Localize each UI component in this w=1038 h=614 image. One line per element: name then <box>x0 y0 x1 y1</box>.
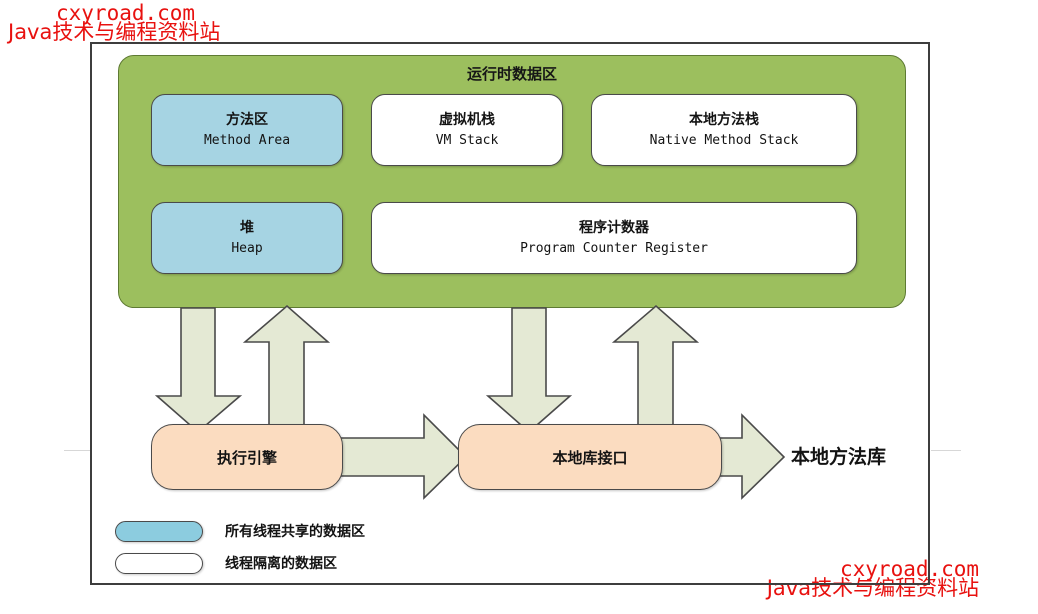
legend-label-isolated: 线程隔离的数据区 <box>225 553 337 573</box>
legend-swatch-isolated <box>115 553 203 574</box>
memory-region-vm-stack[interactable]: 虚拟机栈 VM Stack <box>371 94 563 166</box>
guide-line-left <box>64 450 90 451</box>
native-method-library-label: 本地方法库 <box>791 442 886 469</box>
region-label-cn: 虚拟机栈 <box>439 111 495 130</box>
watermark-tagline: Java技术与编程资料站 <box>8 21 220 43</box>
memory-region-method-area[interactable]: 方法区 Method Area <box>151 94 343 166</box>
runtime-data-area-title: 运行时数据区 <box>119 63 905 84</box>
region-label-en: VM Stack <box>436 132 499 150</box>
native-library-interface-box[interactable]: 本地库接口 <box>458 424 722 490</box>
guide-line-right <box>931 450 961 451</box>
legend-item-shared: 所有线程共享的数据区 <box>115 518 365 544</box>
memory-region-program-counter-register[interactable]: 程序计数器 Program Counter Register <box>371 202 857 274</box>
region-label-cn: 方法区 <box>226 111 268 130</box>
legend-label-shared: 所有线程共享的数据区 <box>225 521 365 541</box>
region-label-cn: 本地方法栈 <box>689 111 759 130</box>
region-label-en: Native Method Stack <box>650 132 799 150</box>
region-label-cn: 堆 <box>240 219 254 238</box>
region-label-en: Heap <box>231 240 262 258</box>
region-label-en: Method Area <box>204 132 290 150</box>
watermark-top-left: cxyroad.com Java技术与编程资料站 <box>8 2 220 43</box>
memory-region-native-method-stack[interactable]: 本地方法栈 Native Method Stack <box>591 94 857 166</box>
memory-region-heap[interactable]: 堆 Heap <box>151 202 343 274</box>
legend-swatch-shared <box>115 521 203 542</box>
region-label-en: Program Counter Register <box>520 240 708 258</box>
legend: 所有线程共享的数据区 线程隔离的数据区 <box>115 518 365 582</box>
execution-engine-box[interactable]: 执行引擎 <box>151 424 343 490</box>
legend-item-isolated: 线程隔离的数据区 <box>115 550 365 576</box>
region-label-cn: 程序计数器 <box>579 219 649 238</box>
